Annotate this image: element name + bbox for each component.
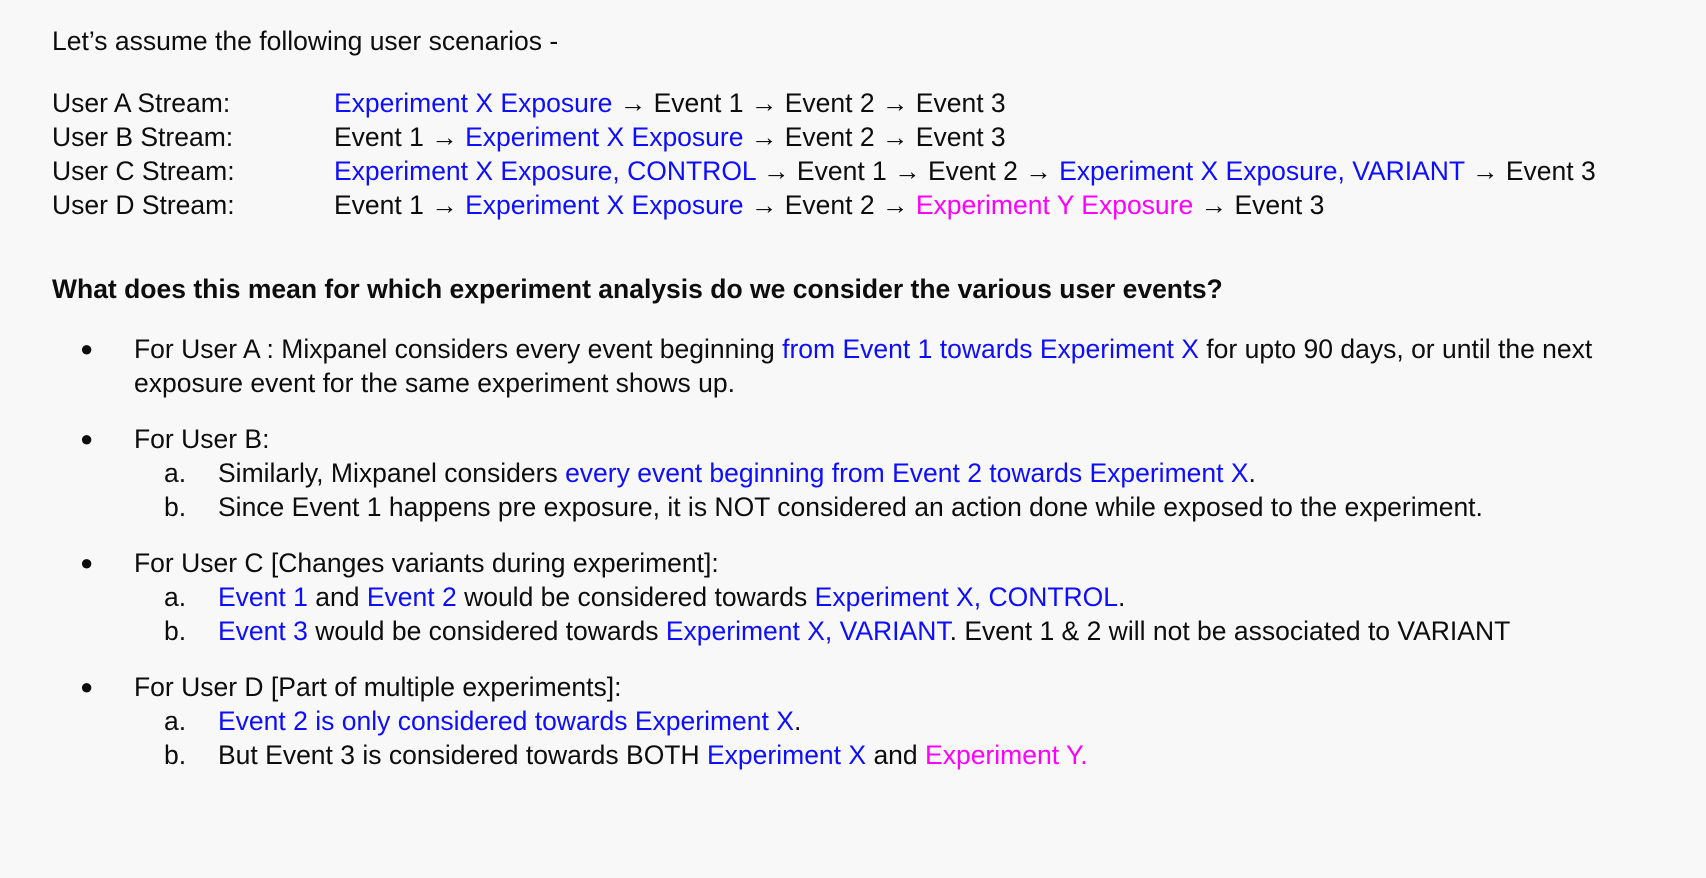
bullet-block: ●For User C [Changes variants during exp… — [52, 546, 1686, 648]
text-run-blue: Experiment X Exposure — [334, 88, 612, 118]
user-stream-row: User B Stream:Event 1 → Experiment X Exp… — [52, 120, 1596, 154]
intro-paragraph: Let’s assume the following user scenario… — [52, 24, 558, 58]
sub-list-marker: b. — [52, 490, 218, 524]
text-run-blue: Experiment X, CONTROL — [815, 582, 1118, 612]
text-run-blue: from Event 1 towards Experiment X — [782, 334, 1199, 364]
sub-list-text: Event 3 would be considered towards Expe… — [218, 614, 1686, 648]
user-stream-label: User D Stream: — [52, 188, 334, 222]
sub-list-text: But Event 3 is considered towards BOTH E… — [218, 738, 1686, 772]
bullet-marker-icon: ● — [52, 670, 134, 704]
bullet-block: ●For User B:a.Similarly, Mixpanel consid… — [52, 422, 1686, 524]
text-run-blue: Experiment X Exposure, VARIANT — [1059, 156, 1465, 186]
text-run-black: For User D [Part of multiple experiments… — [134, 672, 621, 702]
text-run-black: . Event 1 & 2 will not be associated to … — [950, 616, 1511, 646]
bullet-list: ●For User A : Mixpanel considers every e… — [52, 332, 1686, 772]
sub-list-marker: b. — [52, 614, 218, 648]
bullet-text: For User D [Part of multiple experiments… — [134, 670, 1686, 704]
text-run-black: → Event 1 → Event 2 → Event 3 — [612, 88, 1005, 118]
list-item: ●For User D [Part of multiple experiment… — [52, 670, 1686, 704]
sub-list-item: b.But Event 3 is considered towards BOTH… — [52, 738, 1686, 772]
text-run-black: . — [1249, 458, 1256, 488]
text-run-blue: every event beginning from Event 2 towar… — [565, 458, 1248, 488]
bullet-block: ●For User D [Part of multiple experiment… — [52, 670, 1686, 772]
text-run-magenta: Experiment Y Exposure — [916, 190, 1193, 220]
bullet-marker-icon: ● — [52, 332, 134, 366]
sub-list-text: Event 1 and Event 2 would be considered … — [218, 580, 1686, 614]
text-run-blue: Event 2 — [367, 582, 457, 612]
text-run-black: Event 1 → — [334, 190, 465, 220]
user-stream-label: User B Stream: — [52, 120, 334, 154]
bullet-block: ●For User A : Mixpanel considers every e… — [52, 332, 1686, 400]
user-stream-row: User A Stream:Experiment X Exposure → Ev… — [52, 86, 1596, 120]
user-stream-row: User C Stream:Experiment X Exposure, CON… — [52, 154, 1596, 188]
sub-list-text: Since Event 1 happens pre exposure, it i… — [218, 490, 1686, 524]
sub-list-item: b.Since Event 1 happens pre exposure, it… — [52, 490, 1686, 524]
text-run-black: For User C [Changes variants during expe… — [134, 548, 719, 578]
text-run-black: and — [308, 582, 367, 612]
text-run-blue: Experiment X, VARIANT — [666, 616, 950, 646]
bullet-marker-icon: ● — [52, 422, 134, 456]
section-question-heading: What does this mean for which experiment… — [52, 272, 1223, 306]
list-item: ●For User A : Mixpanel considers every e… — [52, 332, 1686, 400]
user-stream-sequence: Experiment X Exposure → Event 1 → Event … — [334, 86, 1596, 120]
list-item: ●For User B: — [52, 422, 1686, 456]
text-run-black: → Event 3 — [1193, 190, 1324, 220]
text-run-black: For User B: — [134, 424, 269, 454]
text-run-black: → Event 1 → Event 2 → — [756, 156, 1059, 186]
sub-list-text: Similarly, Mixpanel considers every even… — [218, 456, 1686, 490]
user-streams-body: User A Stream:Experiment X Exposure → Ev… — [52, 86, 1596, 222]
user-stream-sequence: Event 1 → Experiment X Exposure → Event … — [334, 188, 1596, 222]
text-run-blue: Experiment X — [707, 740, 866, 770]
text-run-black: But Event 3 is considered towards BOTH — [218, 740, 707, 770]
bullet-marker-icon: ● — [52, 546, 134, 580]
text-run-black: would be considered towards — [308, 616, 666, 646]
text-run-black: → Event 3 — [1465, 156, 1596, 186]
sub-list-marker: a. — [52, 456, 218, 490]
text-run-black: . — [794, 706, 801, 736]
text-run-black: would be considered towards — [457, 582, 815, 612]
user-stream-sequence: Event 1 → Experiment X Exposure → Event … — [334, 120, 1596, 154]
text-run-black: and — [866, 740, 925, 770]
text-run-blue: Experiment X Exposure, CONTROL — [334, 156, 756, 186]
user-streams-table: User A Stream:Experiment X Exposure → Ev… — [52, 86, 1596, 222]
sub-list-marker: a. — [52, 704, 218, 738]
user-stream-sequence: Experiment X Exposure, CONTROL → Event 1… — [334, 154, 1596, 188]
user-stream-label: User C Stream: — [52, 154, 334, 188]
text-run-black: . — [1118, 582, 1125, 612]
text-run-blue: Experiment X Exposure — [465, 190, 743, 220]
sub-list-marker: b. — [52, 738, 218, 772]
text-run-black: → Event 2 → — [743, 190, 915, 220]
document-page: Let’s assume the following user scenario… — [0, 0, 1706, 878]
text-run-black: For User A : Mixpanel considers every ev… — [134, 334, 782, 364]
sub-list-text: Event 2 is only considered towards Exper… — [218, 704, 1686, 738]
sub-list-item: a.Event 1 and Event 2 would be considere… — [52, 580, 1686, 614]
user-stream-label: User A Stream: — [52, 86, 334, 120]
text-run-black: Similarly, Mixpanel considers — [218, 458, 565, 488]
text-run-blue: Event 1 — [218, 582, 308, 612]
bullet-text: For User A : Mixpanel considers every ev… — [134, 332, 1686, 400]
text-run-blue: Experiment X Exposure — [465, 122, 743, 152]
user-stream-row: User D Stream:Event 1 → Experiment X Exp… — [52, 188, 1596, 222]
text-run-black: Event 1 → — [334, 122, 465, 152]
sub-list-marker: a. — [52, 580, 218, 614]
text-run-blue: Event 3 — [218, 616, 308, 646]
sub-list-item: a.Event 2 is only considered towards Exp… — [52, 704, 1686, 738]
bullet-text: For User C [Changes variants during expe… — [134, 546, 1686, 580]
text-run-black: Since Event 1 happens pre exposure, it i… — [218, 492, 1483, 522]
list-item: ●For User C [Changes variants during exp… — [52, 546, 1686, 580]
sub-list-item: a.Similarly, Mixpanel considers every ev… — [52, 456, 1686, 490]
text-run-black: → Event 2 → Event 3 — [743, 122, 1005, 152]
text-run-magenta: Experiment Y. — [925, 740, 1088, 770]
sub-list-item: b.Event 3 would be considered towards Ex… — [52, 614, 1686, 648]
bullet-text: For User B: — [134, 422, 1686, 456]
text-run-blue: Event 2 is only considered towards Exper… — [218, 706, 794, 736]
